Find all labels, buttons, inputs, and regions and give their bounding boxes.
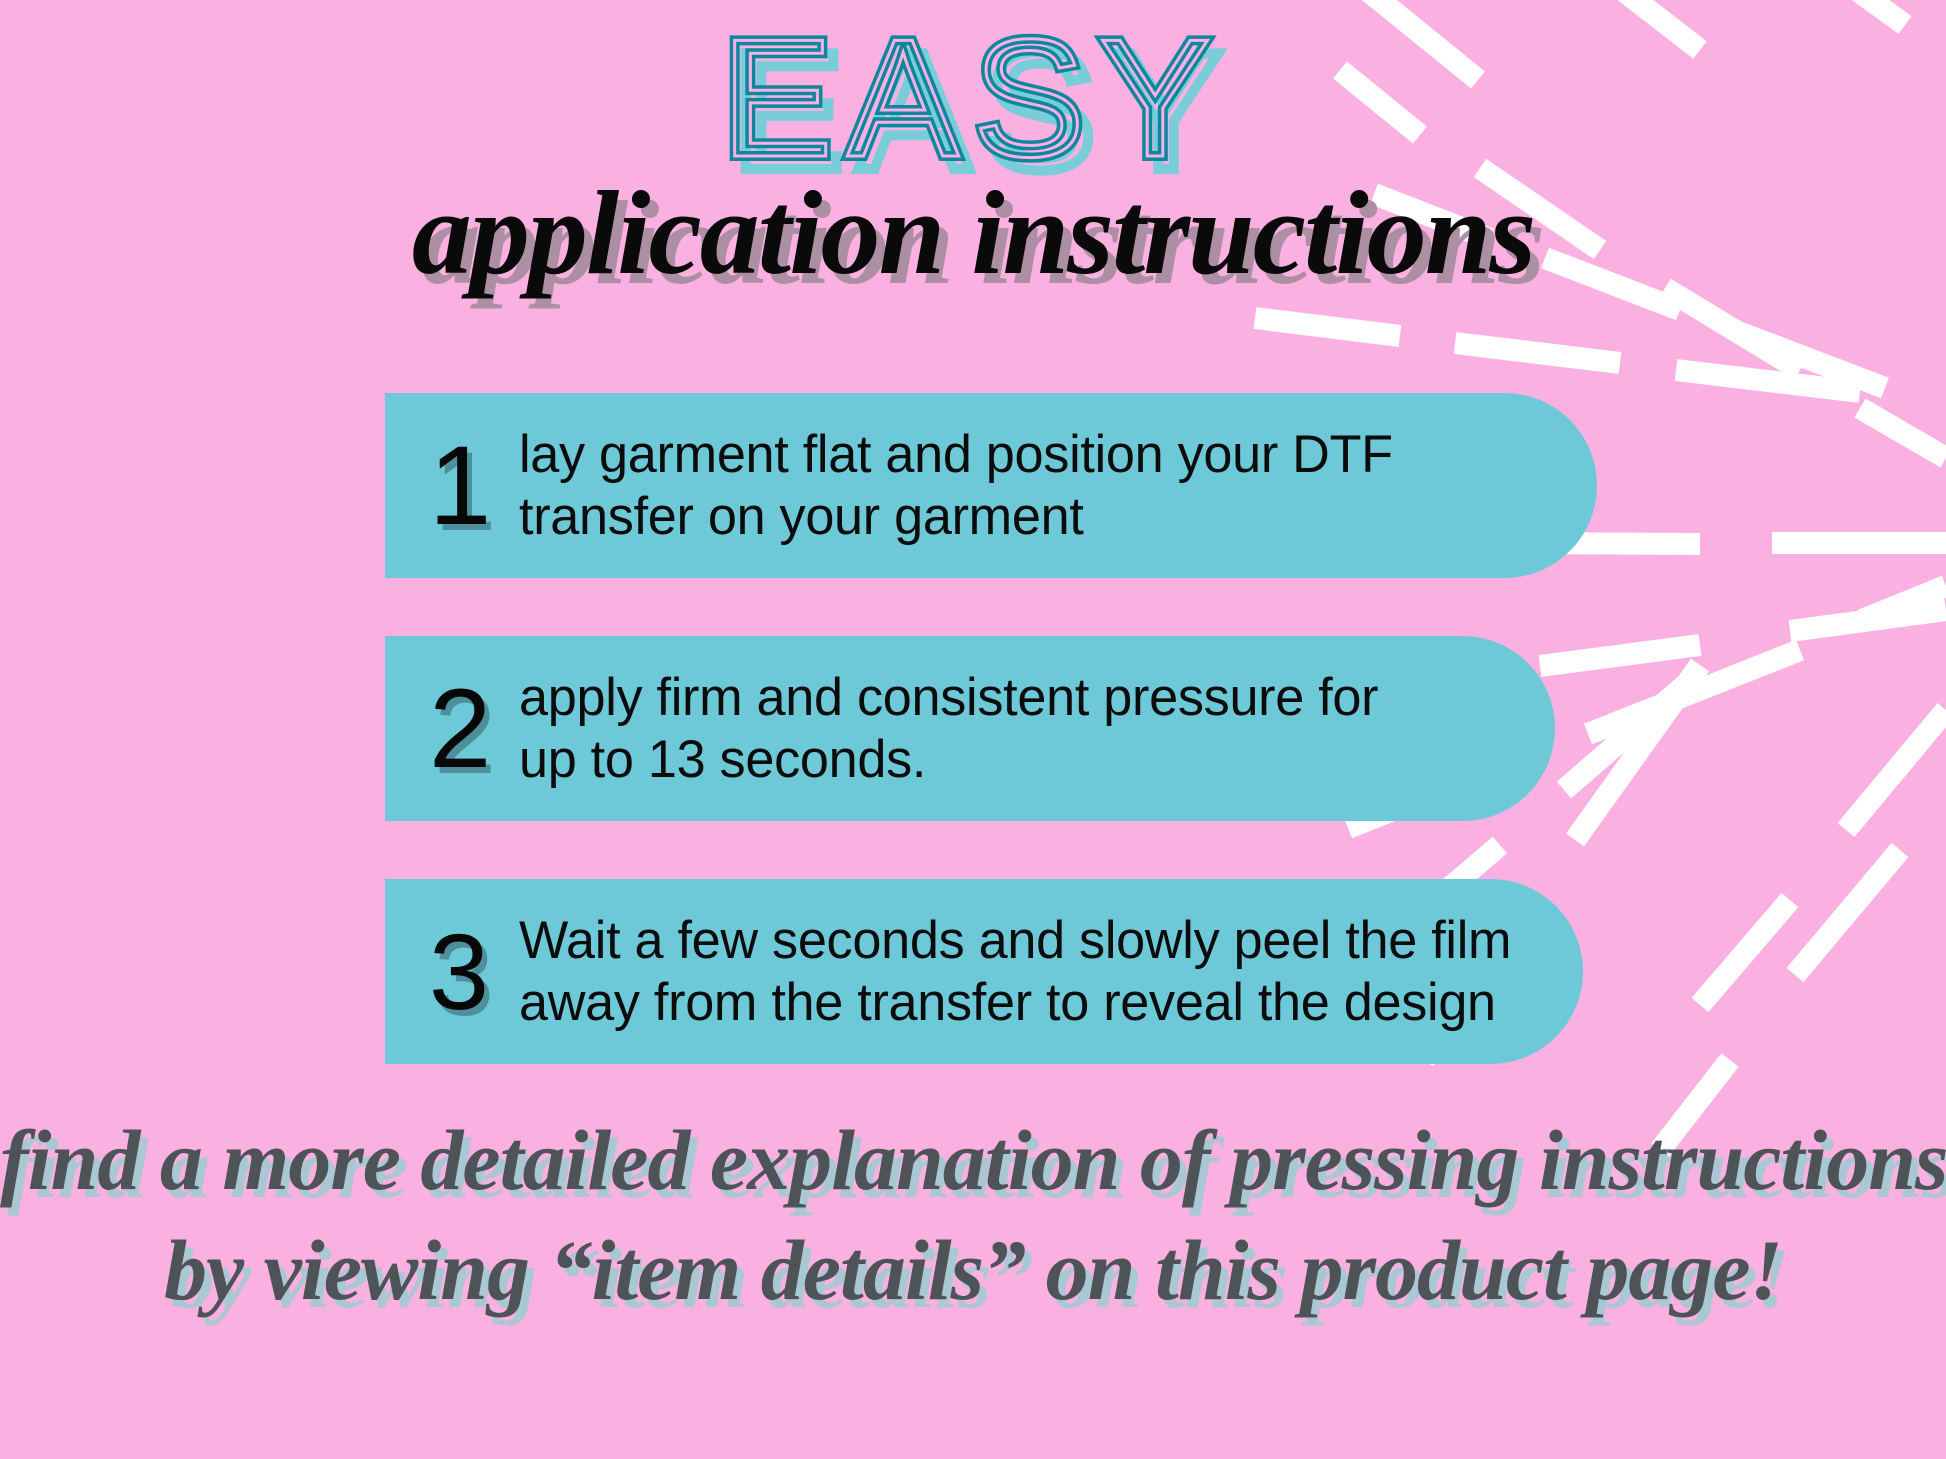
sunburst-ray bbox=[1790, 610, 1946, 631]
step-number-1: 1 bbox=[429, 430, 493, 542]
step-text-1: lay garment flat and position your DTF t… bbox=[519, 424, 1393, 547]
poster-canvas: EASY EASY EASY application instructions … bbox=[0, 0, 1946, 1459]
sunburst-ray bbox=[1665, 288, 1800, 370]
sunburst-ray bbox=[1860, 408, 1946, 458]
steps-list: 1 lay garment flat and position your DTF… bbox=[385, 393, 1597, 1064]
sunburst-ray bbox=[1588, 650, 1800, 734]
step-number-2: 2 bbox=[429, 673, 493, 785]
page-title: EASY EASY EASY bbox=[0, 14, 1946, 184]
step-item-1: 1 lay garment flat and position your DTF… bbox=[385, 393, 1597, 578]
sunburst-ray bbox=[1676, 370, 1860, 392]
step-number-3: 3 bbox=[429, 918, 493, 1026]
sunburst-ray bbox=[1455, 343, 1620, 363]
sunburst-ray bbox=[1700, 900, 1790, 1005]
step-text-2: apply firm and consistent pressure for u… bbox=[519, 667, 1378, 790]
footer-note-line-2: by viewing “item details” on this produc… bbox=[0, 1215, 1946, 1325]
step-item-3: 3 Wait a few seconds and slowly peel the… bbox=[385, 879, 1583, 1064]
sunburst-ray bbox=[1862, 586, 1946, 620]
sunburst-ray bbox=[1795, 850, 1900, 975]
step-item-2: 2 apply firm and consistent pressure for… bbox=[385, 636, 1555, 821]
step-text-3: Wait a few seconds and slowly peel the f… bbox=[519, 910, 1511, 1033]
sunburst-ray bbox=[1733, 330, 1885, 388]
page-subtitle: application instructions bbox=[0, 170, 1946, 296]
sunburst-ray bbox=[1846, 710, 1946, 830]
footer-note: find a more detailed explanation of pres… bbox=[0, 1105, 1946, 1325]
page-title-inner-layer: EASY bbox=[0, 14, 1946, 182]
footer-note-line-1: find a more detailed explanation of pres… bbox=[0, 1105, 1946, 1215]
sunburst-ray bbox=[1255, 318, 1400, 336]
